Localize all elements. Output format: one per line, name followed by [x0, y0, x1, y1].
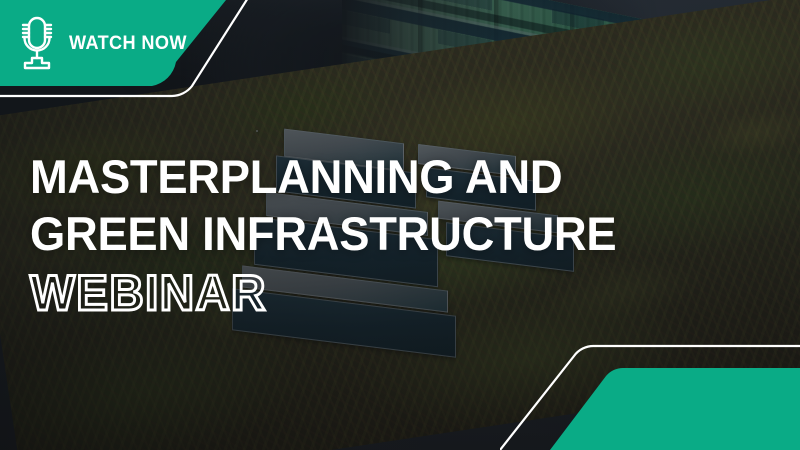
- headline-line-2: GREEN INFRASTRUCTURE: [30, 205, 744, 262]
- headline-block: MASTERPLANNING AND GREEN INFRASTRUCTURE …: [30, 148, 770, 319]
- headline-line-1: MASTERPLANNING AND: [30, 148, 744, 205]
- tag-content: WATCH NOW: [0, 0, 200, 86]
- headline-subtitle: WEBINAR: [30, 267, 733, 319]
- tag-label: WATCH NOW: [69, 32, 187, 55]
- corner-accent-block: [540, 358, 800, 450]
- microphone-icon: [17, 14, 57, 72]
- webinar-promo-banner: WATCH NOW MASTERPLANNING AND GREEN INFRA…: [0, 0, 800, 450]
- watch-now-tag[interactable]: WATCH NOW: [0, 0, 226, 86]
